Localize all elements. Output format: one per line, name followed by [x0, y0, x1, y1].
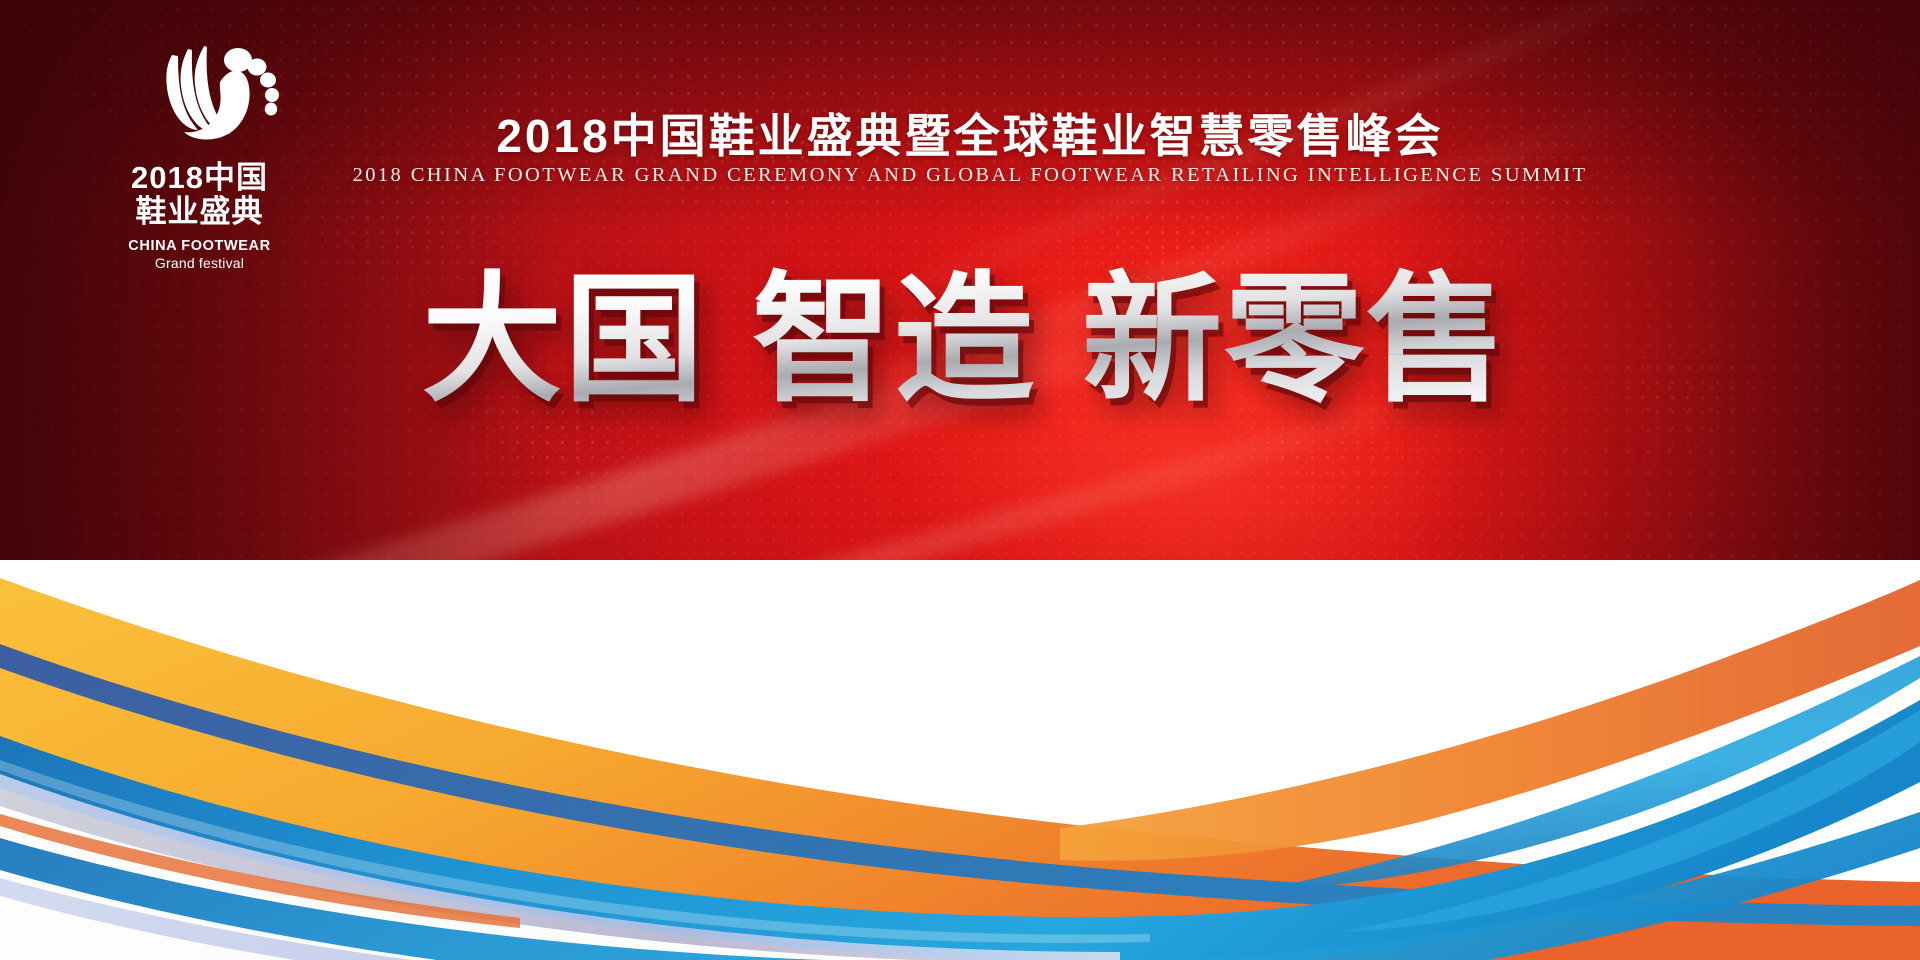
headline-part-3: 新零售: [1082, 261, 1508, 418]
event-title-english: 2018 CHINA FOOTWEAR GRAND CEREMONY AND G…: [0, 164, 1920, 187]
event-banner: 2018中国 鞋业盛典 CHINA FOOTWEAR Grand festiva…: [0, 0, 1920, 960]
event-title-chinese: 2018中国鞋业盛典暨全球鞋业智慧零售峰会: [0, 100, 1920, 166]
headline-part-1: 大国: [422, 261, 706, 418]
ribbon-wave-graphic: [0, 560, 1920, 960]
logo-name-line: 鞋业盛典: [92, 196, 307, 229]
headline-slogan: 大国智造新零售: [0, 262, 1920, 419]
logo-english-primary: CHINA FOOTWEAR: [92, 238, 307, 254]
headline-part-2: 智造: [752, 261, 1036, 418]
